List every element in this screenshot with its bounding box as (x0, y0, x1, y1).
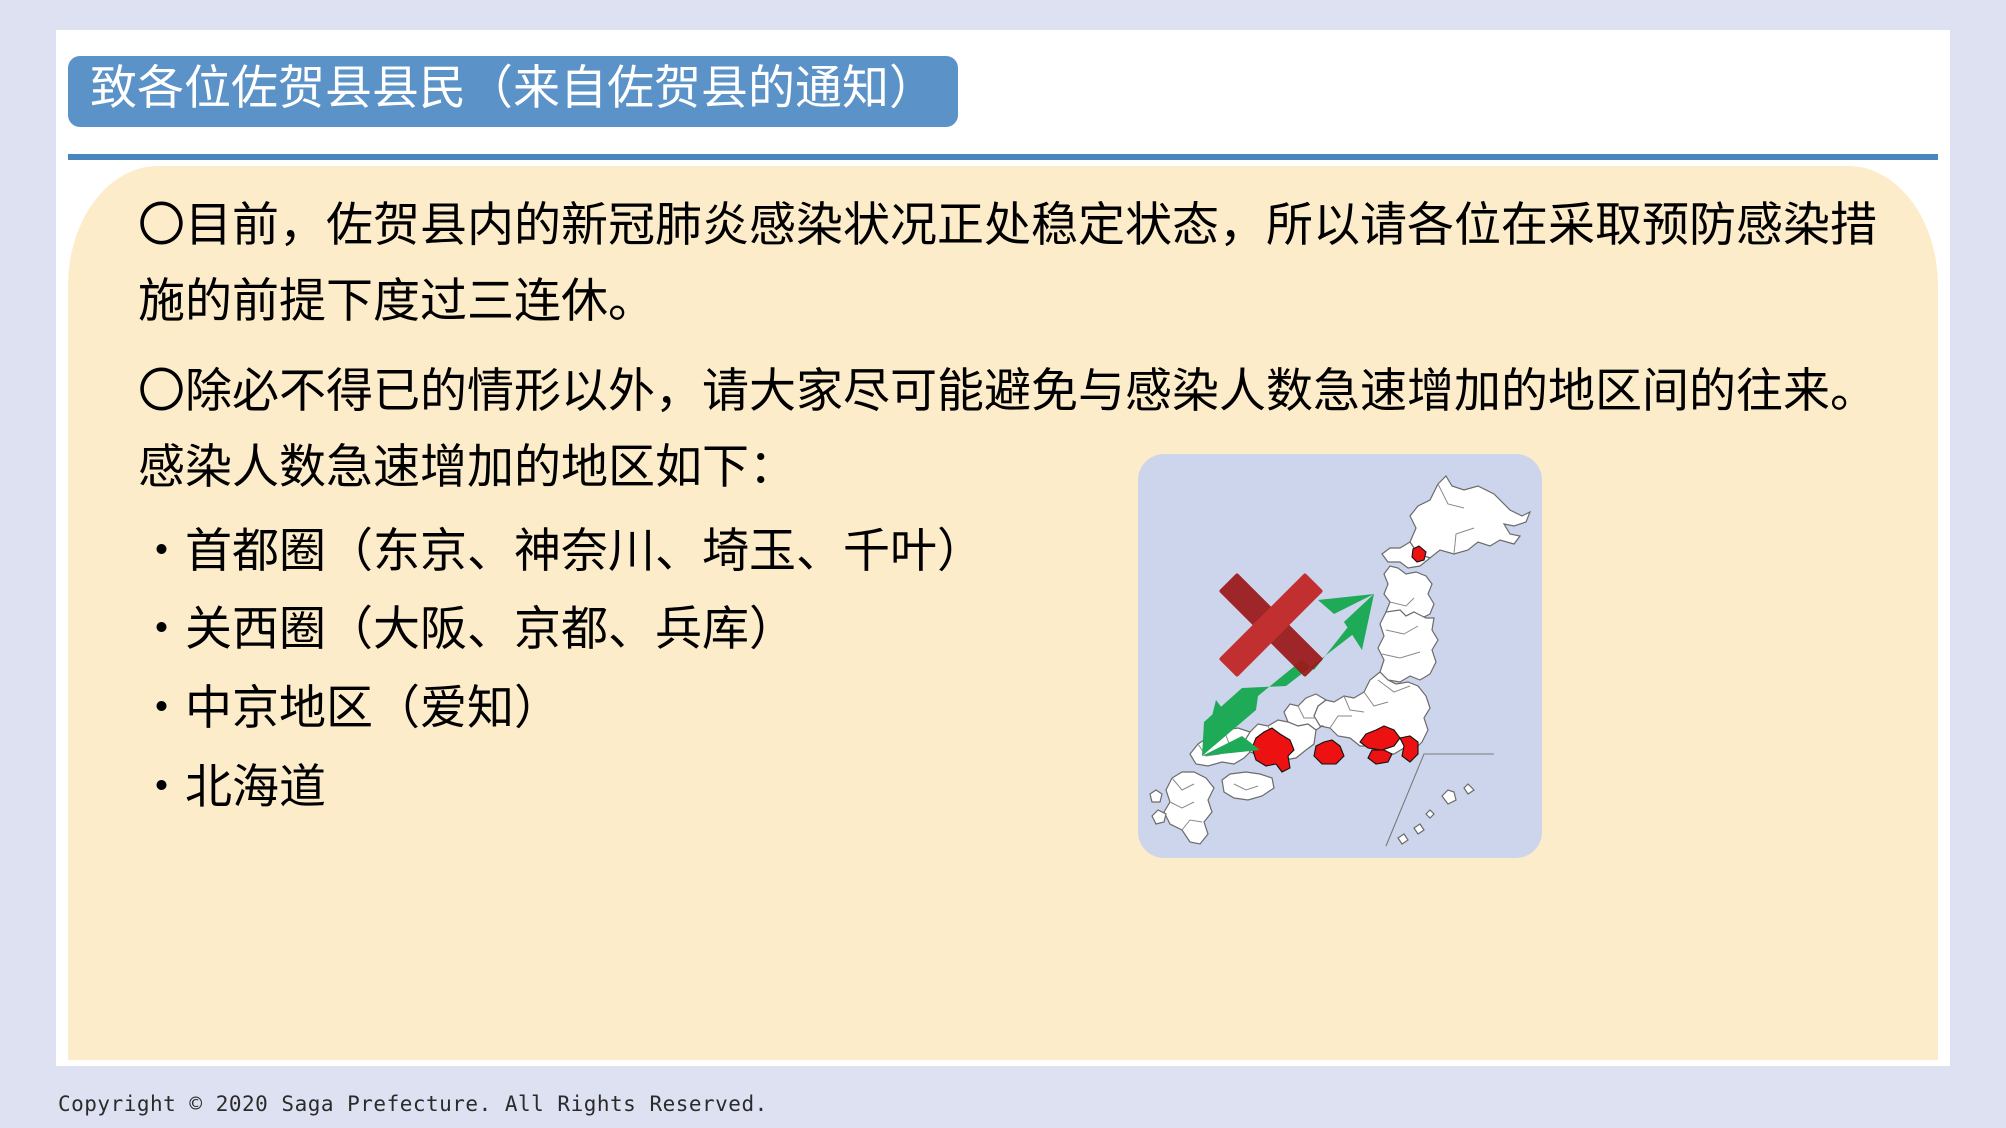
map-inset-frame (1386, 754, 1494, 846)
copyright-text: Copyright © 2020 Saga Prefecture. All Ri… (58, 1092, 768, 1116)
region-list: ・首都圈（东京、神奈川、埼玉、千叶） ・关西圈（大阪、京都、兵库） ・中京地区（… (138, 513, 1878, 829)
footer-bar: Copyright © 2020 Saga Prefecture. All Ri… (0, 1084, 2006, 1128)
region-kyushu (1164, 772, 1214, 844)
region-tohoku (1378, 610, 1438, 682)
japan-map-svg (1138, 454, 1542, 858)
japan-map-panel (1138, 454, 1542, 858)
island-okinawa-d (1414, 824, 1424, 834)
list-item: ・首都圈（东京、神奈川、埼玉、千叶） (138, 513, 1878, 592)
island-okinawa-e (1398, 834, 1408, 844)
island-okinawa-c (1426, 810, 1434, 818)
title-container: 致各位佐贺县县民（来自佐贺县的通知） (68, 56, 958, 127)
region-tohoku-north (1384, 566, 1434, 618)
list-item: ・中京地区（爱知） (138, 670, 1878, 749)
highlight-aichi (1314, 740, 1344, 764)
island-okinawa-b (1464, 784, 1474, 794)
region-hokkaido (1410, 476, 1530, 558)
content-panel: 〇目前，佐贺县内的新冠肺炎感染状况正处稳定状态，所以请各位在采取预防感染措施的前… (68, 166, 1938, 1060)
slide-card: 致各位佐贺县县民（来自佐贺县的通知） 〇目前，佐贺县内的新冠肺炎感染状况正处稳定… (56, 30, 1950, 1066)
list-item: ・关西圈（大阪、京都、兵库） (138, 591, 1878, 670)
highlight-kanagawa (1368, 750, 1392, 764)
list-item: ・北海道 (138, 749, 1878, 828)
paragraph-2: 〇除必不得已的情形以外，请大家尽可能避免与感染人数急速增加的地区间的往来。感染人… (138, 354, 1878, 506)
body-text: 〇目前，佐贺县内的新冠肺炎感染状况正处稳定状态，所以请各位在采取预防感染措施的前… (138, 188, 1878, 828)
region-shikoku (1222, 772, 1274, 800)
japan-landmass-group (1150, 476, 1530, 844)
red-cross-overlay (1219, 573, 1324, 678)
title-divider (68, 154, 1938, 160)
island-goto (1150, 790, 1162, 802)
island-okinawa-a (1442, 790, 1456, 804)
page-title: 致各位佐贺县县民（来自佐贺县的通知） (68, 56, 958, 127)
paragraph-1: 〇目前，佐贺县内的新冠肺炎感染状况正处稳定状态，所以请各位在采取预防感染措施的前… (138, 188, 1878, 340)
